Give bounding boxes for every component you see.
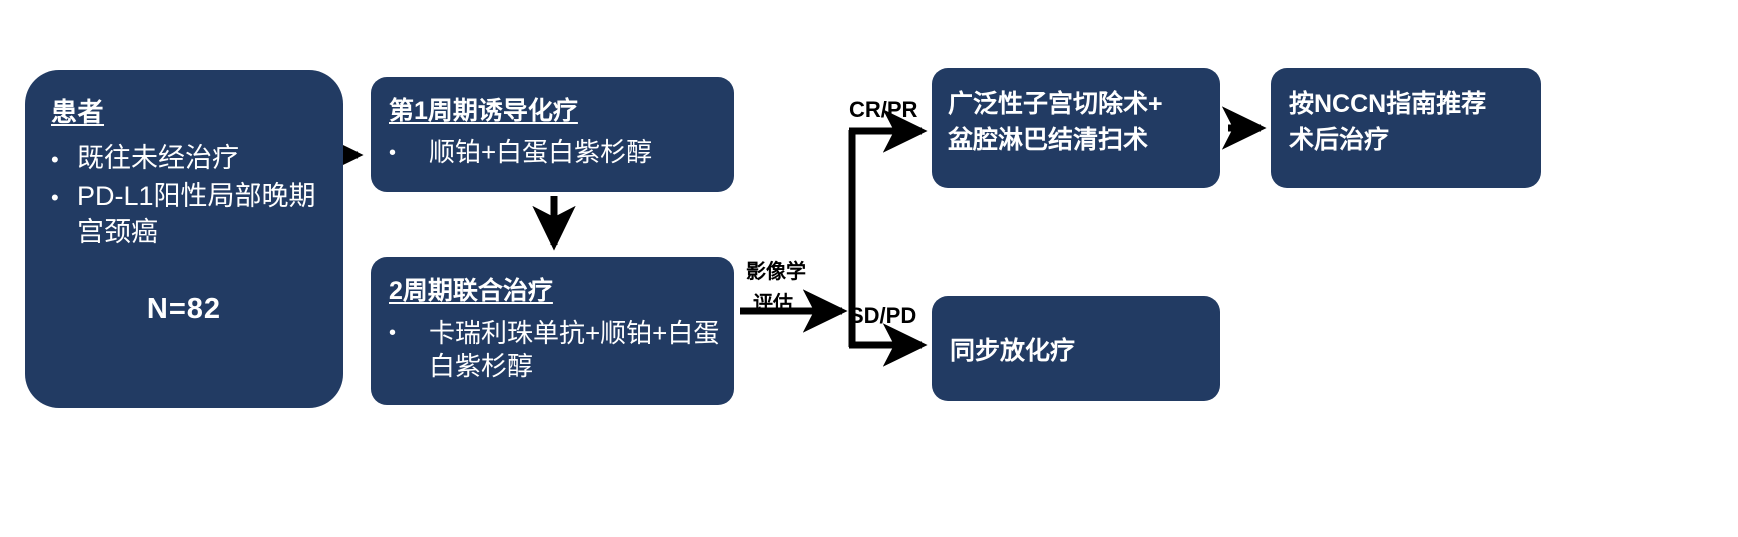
node-cycle1-bullet-1: • 顺铂+白蛋白紫杉醇 xyxy=(389,137,718,168)
flowchart-canvas: 患者 • 既往未经治疗 • PD-L1阳性局部晚期宫颈癌 N=82 第1周期诱导… xyxy=(0,0,1738,537)
node-concurrent-chemoradiation: 同步放化疗 xyxy=(932,296,1220,401)
node-cycle1-title: 第1周期诱导化疗 xyxy=(389,91,718,127)
node-radical-surgery-line2: 盆腔淋巴结清扫术 xyxy=(948,122,1206,158)
node-patients-bullet-2: • PD-L1阳性局部晚期宫颈癌 xyxy=(51,179,317,251)
node-nccn-adjuvant-therapy: 按NCCN指南推荐 术后治疗 xyxy=(1271,68,1541,188)
node-nccn-line2: 术后治疗 xyxy=(1289,122,1527,158)
node-cycle2-bullet-1-text: 卡瑞利珠单抗+顺铂+白蛋白紫杉醇 xyxy=(429,317,720,384)
node-cycle2-combination: 2周期联合治疗 • 卡瑞利珠单抗+顺铂+白蛋白紫杉醇 xyxy=(371,257,734,405)
node-patients-title: 患者 xyxy=(51,92,317,129)
edge-label-sd-pd: SD/PD xyxy=(849,303,916,329)
node-patients-bullet-1-text: 既往未经治疗 xyxy=(77,141,317,177)
edge-label-cr-pr: CR/PR xyxy=(849,97,917,123)
node-patients: 患者 • 既往未经治疗 • PD-L1阳性局部晚期宫颈癌 N=82 xyxy=(25,70,343,408)
node-radical-surgery: 广泛性子宫切除术+ 盆腔淋巴结清扫术 xyxy=(932,68,1220,188)
node-radical-surgery-line1: 广泛性子宫切除术+ xyxy=(948,86,1206,122)
node-nccn-line1: 按NCCN指南推荐 xyxy=(1289,86,1527,122)
edge-label-imaging-line1: 影像学 xyxy=(746,255,806,284)
node-patients-bullet-1: • 既往未经治疗 xyxy=(51,141,317,177)
node-patients-bullet-2-text: PD-L1阳性局部晚期宫颈癌 xyxy=(77,179,317,251)
edge-label-imaging-line2: 评估 xyxy=(753,287,793,316)
bullet-marker-icon: • xyxy=(389,137,429,163)
node-cycle1-induction: 第1周期诱导化疗 • 顺铂+白蛋白紫杉醇 xyxy=(371,77,734,192)
bullet-marker-icon: • xyxy=(51,141,77,171)
bullet-marker-icon: • xyxy=(51,179,77,209)
node-cycle2-title: 2周期联合治疗 xyxy=(389,271,720,307)
node-cycle1-bullet-1-text: 顺铂+白蛋白紫杉醇 xyxy=(429,137,718,168)
node-patients-sample-size: N=82 xyxy=(51,293,317,326)
bullet-marker-icon: • xyxy=(389,317,429,343)
node-concurrent-chemoradiation-label: 同步放化疗 xyxy=(950,331,1075,367)
node-cycle2-bullet-1: • 卡瑞利珠单抗+顺铂+白蛋白紫杉醇 xyxy=(389,317,720,384)
